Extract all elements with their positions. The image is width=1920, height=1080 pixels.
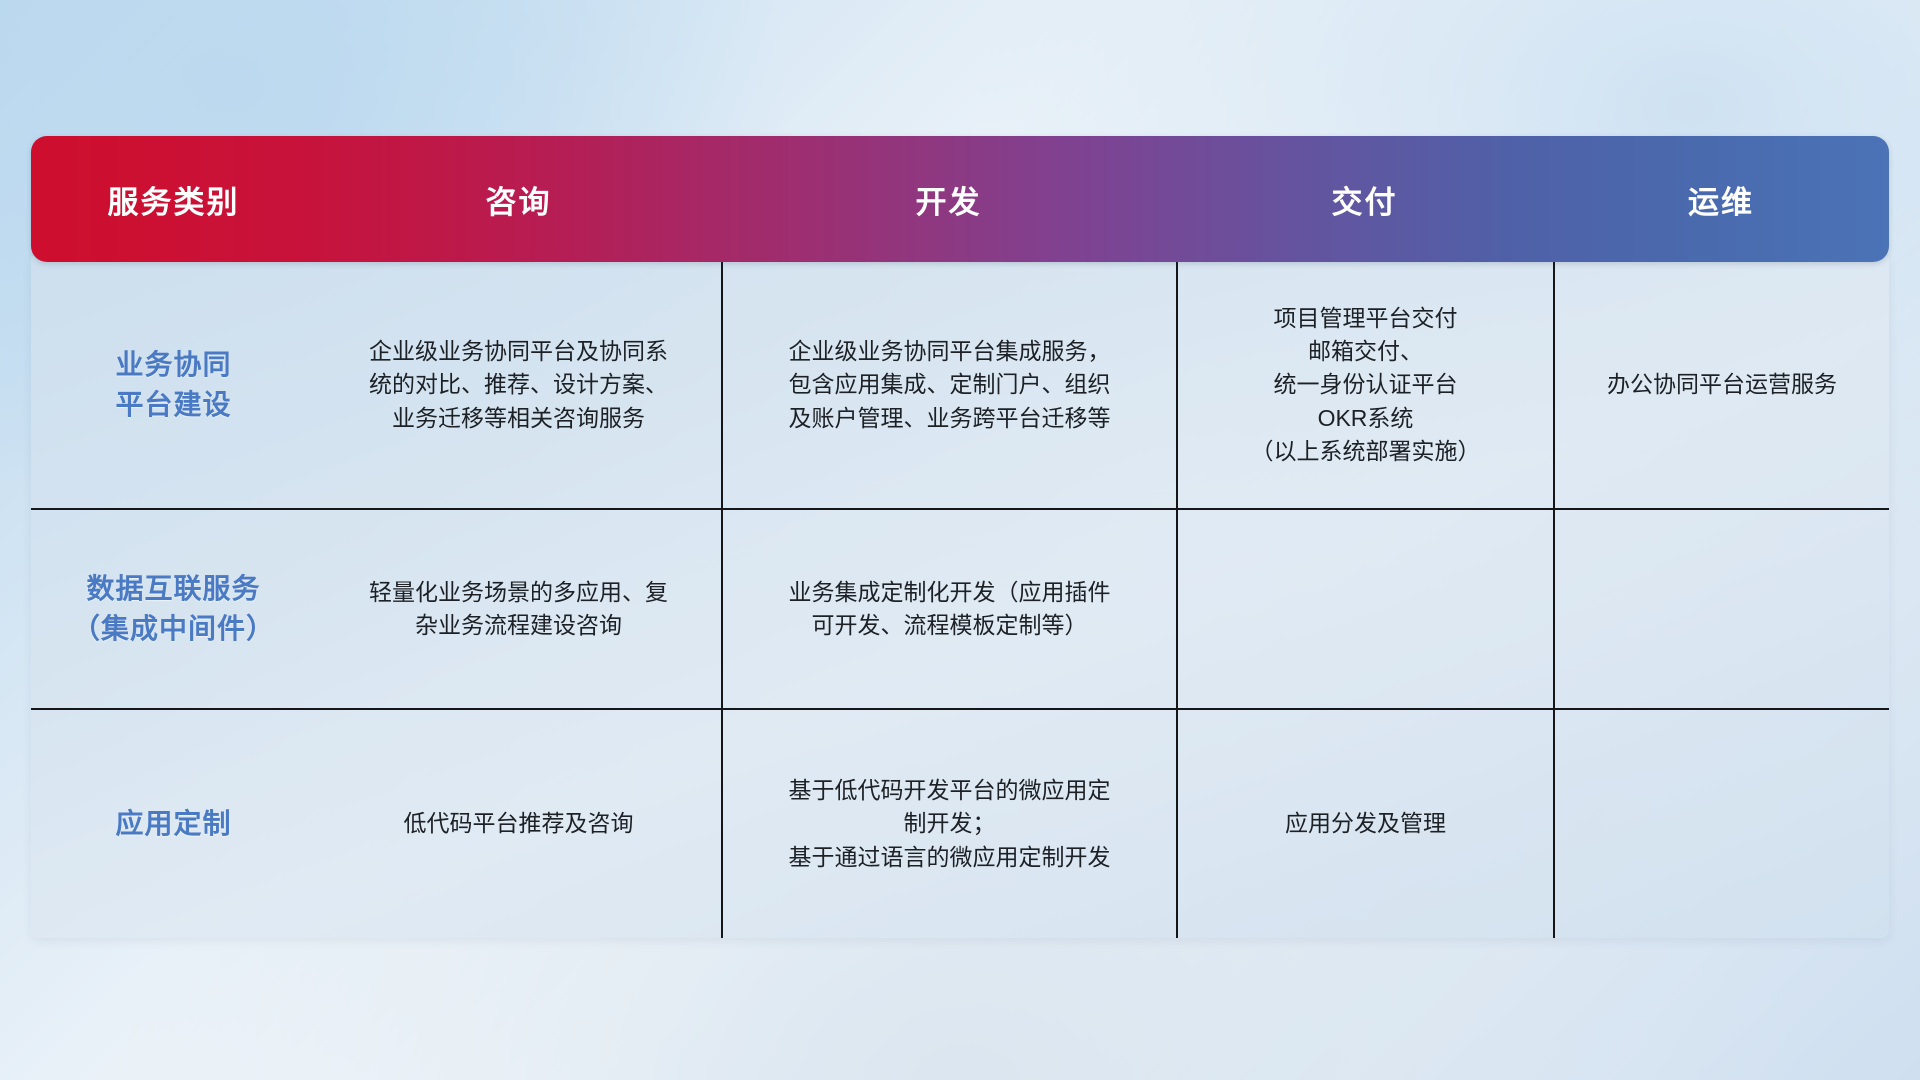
cell-develop-row0: 企业级业务协同平台集成服务， 包含应用集成、定制门户、组织 及账户管理、业务跨平…	[721, 262, 1176, 508]
row-label-business-collaboration: 业务协同 平台建设	[31, 262, 316, 508]
cell-ops-row1	[1553, 510, 1889, 708]
column-header-ops[interactable]: 运维	[1553, 136, 1889, 262]
row-label-app-customization: 应用定制	[31, 710, 316, 938]
cell-develop-row2: 基于低代码开发平台的微应用定 制开发； 基于通过语言的微应用定制开发	[721, 710, 1176, 938]
cell-deliver-row1	[1176, 510, 1553, 708]
cell-develop-row1: 业务集成定制化开发（应用插件 可开发、流程模板定制等）	[721, 510, 1176, 708]
cell-consult-row0: 企业级业务协同平台及协同系 统的对比、推荐、设计方案、 业务迁移等相关咨询服务	[316, 262, 721, 508]
slide-canvas: 服务类别 咨询 开发 交付 运维 业务协同 平台建设 企业级业务协同平台及协同系…	[0, 0, 1920, 1080]
table-row: 业务协同 平台建设 企业级业务协同平台及协同系 统的对比、推荐、设计方案、 业务…	[31, 262, 1889, 508]
cell-deliver-row2: 应用分发及管理	[1176, 710, 1553, 938]
cell-consult-row2: 低代码平台推荐及咨询	[316, 710, 721, 938]
column-header-deliver[interactable]: 交付	[1176, 136, 1553, 262]
column-header-category[interactable]: 服务类别	[31, 136, 316, 262]
table-row: 数据互联服务 （集成中间件） 轻量化业务场景的多应用、复 杂业务流程建设咨询 业…	[31, 508, 1889, 708]
row-label-data-interconnect: 数据互联服务 （集成中间件）	[31, 510, 316, 708]
cell-ops-row2	[1553, 710, 1889, 938]
table-body: 业务协同 平台建设 企业级业务协同平台及协同系 统的对比、推荐、设计方案、 业务…	[31, 256, 1889, 938]
column-header-develop[interactable]: 开发	[721, 136, 1176, 262]
table-header-row: 服务类别 咨询 开发 交付 运维	[31, 136, 1889, 262]
column-header-consult[interactable]: 咨询	[316, 136, 721, 262]
cell-ops-row0: 办公协同平台运营服务	[1553, 262, 1889, 508]
table-row: 应用定制 低代码平台推荐及咨询 基于低代码开发平台的微应用定 制开发； 基于通过…	[31, 708, 1889, 938]
cell-consult-row1: 轻量化业务场景的多应用、复 杂业务流程建设咨询	[316, 510, 721, 708]
cell-deliver-row0: 项目管理平台交付 邮箱交付、 统一身份认证平台 OKR系统 （以上系统部署实施）	[1176, 262, 1553, 508]
service-category-table: 服务类别 咨询 开发 交付 运维 业务协同 平台建设 企业级业务协同平台及协同系…	[31, 136, 1889, 956]
